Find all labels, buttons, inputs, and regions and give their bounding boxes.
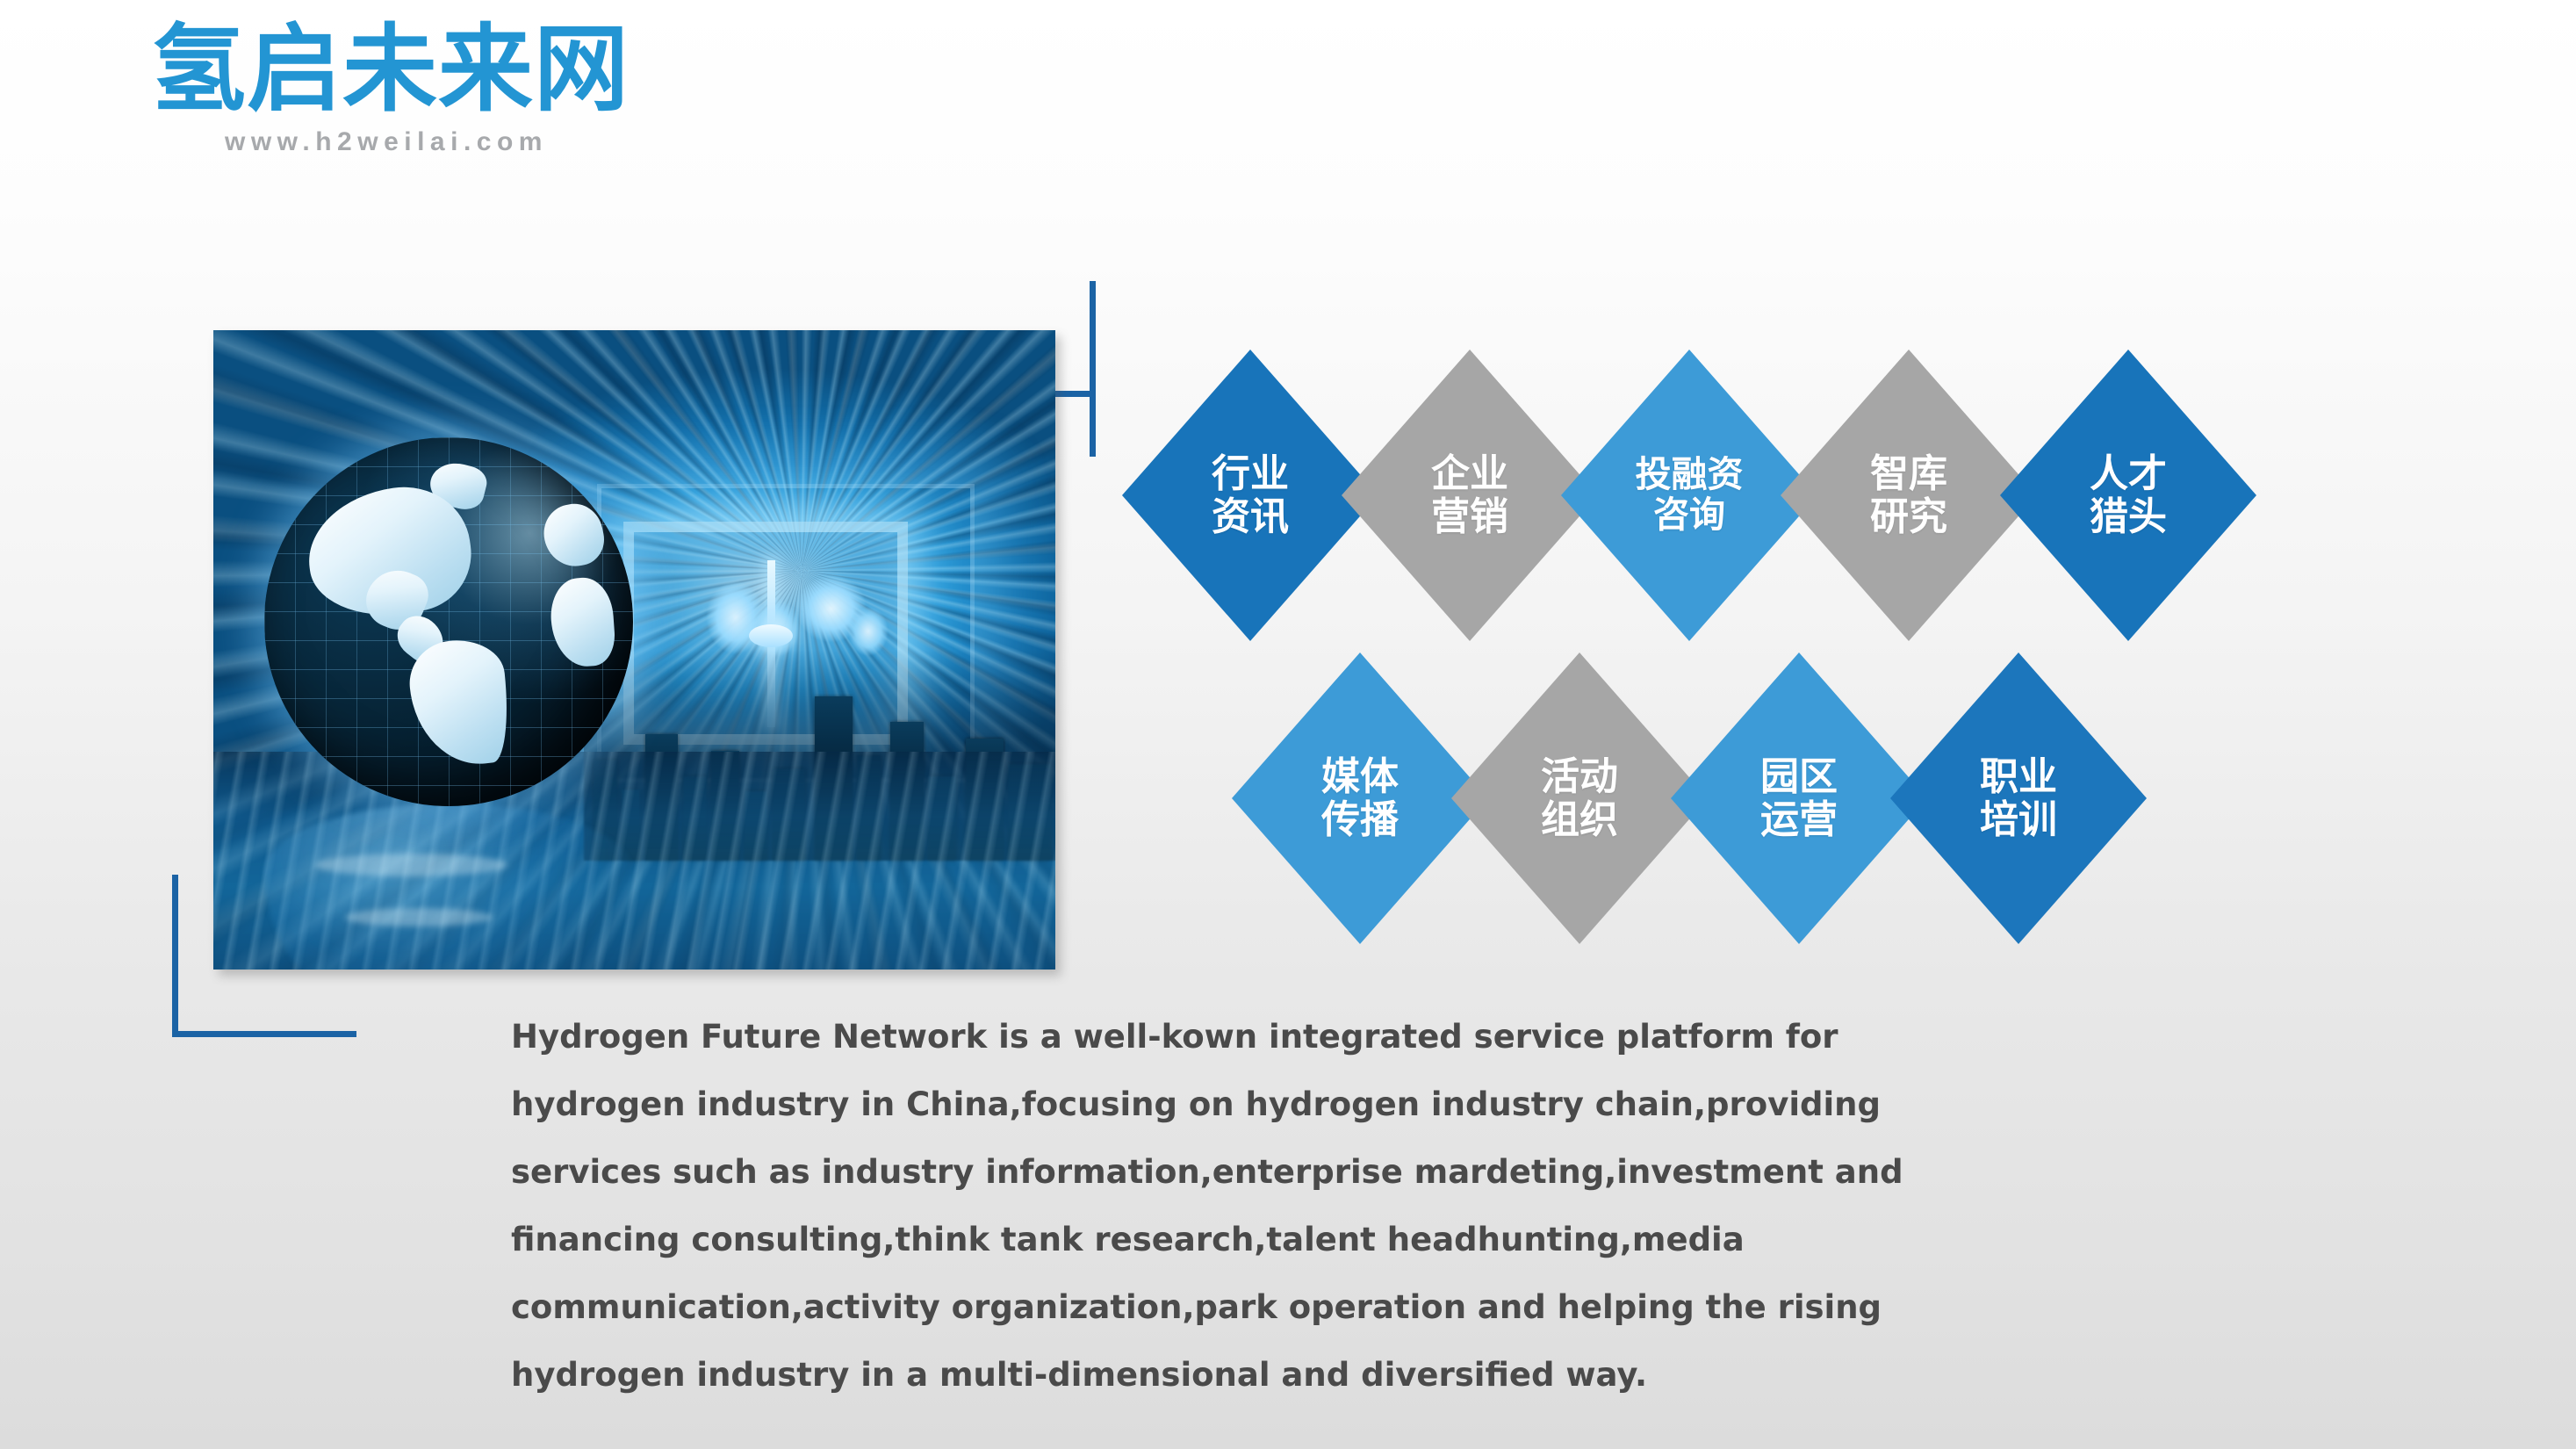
service-diamond-think-tank-research[interactable]: 智库 研究 (1781, 350, 2037, 641)
photo-reflection-band (315, 854, 507, 876)
description-line: communication,activity organization,park… (511, 1273, 2004, 1341)
company-description: Hydrogen Future Network is a well-kown i… (511, 1003, 2004, 1409)
service-diamond-label: 媒体 传播 (1321, 755, 1399, 842)
service-diamond-enterprise-marketing[interactable]: 企业 营销 (1342, 350, 1598, 641)
description-line: services such as industry information,en… (511, 1138, 2004, 1206)
photo-earth-globe (264, 437, 633, 806)
service-diamond-park-operation[interactable]: 园区 运营 (1671, 652, 1927, 944)
service-diamond-industry-news[interactable]: 行业 资讯 (1122, 350, 1378, 641)
bracket-vertical-segment (1090, 281, 1096, 457)
photo-world-map-glow (706, 573, 890, 661)
service-diamond-investment-financing[interactable]: 投融资 咨询 (1561, 350, 1817, 641)
description-line: hydrogen industry in a multi-dimensional… (511, 1341, 2004, 1409)
site-logo-title: 氢启未来网 (151, 19, 818, 122)
bracket-horizontal-segment (172, 1031, 356, 1037)
service-diamond-activity-organization[interactable]: 活动 组织 (1451, 652, 1708, 944)
description-line: financing consulting,think tank research… (511, 1206, 2004, 1273)
service-diamond-label: 园区 运营 (1760, 755, 1838, 842)
service-diamond-media-communication[interactable]: 媒体 传播 (1232, 652, 1488, 944)
service-diamond-label: 活动 组织 (1541, 755, 1618, 842)
service-diamond-talent-headhunting[interactable]: 人才 猎头 (2000, 350, 2256, 641)
photo-tower-pod (749, 624, 793, 647)
photo-canvas (213, 330, 1055, 970)
description-line: hydrogen industry in China,focusing on h… (511, 1071, 2004, 1138)
brand-block: 氢启未来网 www.h2weilai.com (151, 19, 818, 157)
service-diamond-label: 职业 培训 (1980, 755, 2057, 842)
service-diamond-label: 行业 资讯 (1212, 452, 1289, 539)
description-line: Hydrogen Future Network is a well-kown i… (511, 1003, 2004, 1071)
service-diamond-label: 人才 猎头 (2090, 452, 2167, 539)
globe-network-photo (213, 330, 1055, 970)
photo-globe-reflection (264, 804, 633, 970)
bracket-vertical-segment (172, 875, 178, 1037)
service-diamond-cluster: 行业 资讯 企业 营销 投融资 咨询 智库 研究 人才 猎头 媒体 传播 活动 … (1122, 350, 2527, 1034)
service-diamond-label: 企业 营销 (1431, 452, 1508, 539)
service-diamond-label: 投融资 咨询 (1636, 455, 1744, 536)
photo-reflection-band (345, 908, 493, 926)
site-url: www.h2weilai.com (225, 127, 818, 157)
service-diamond-label: 智库 研究 (1870, 452, 1947, 539)
service-diamond-vocational-training[interactable]: 职业 培训 (1890, 652, 2147, 944)
